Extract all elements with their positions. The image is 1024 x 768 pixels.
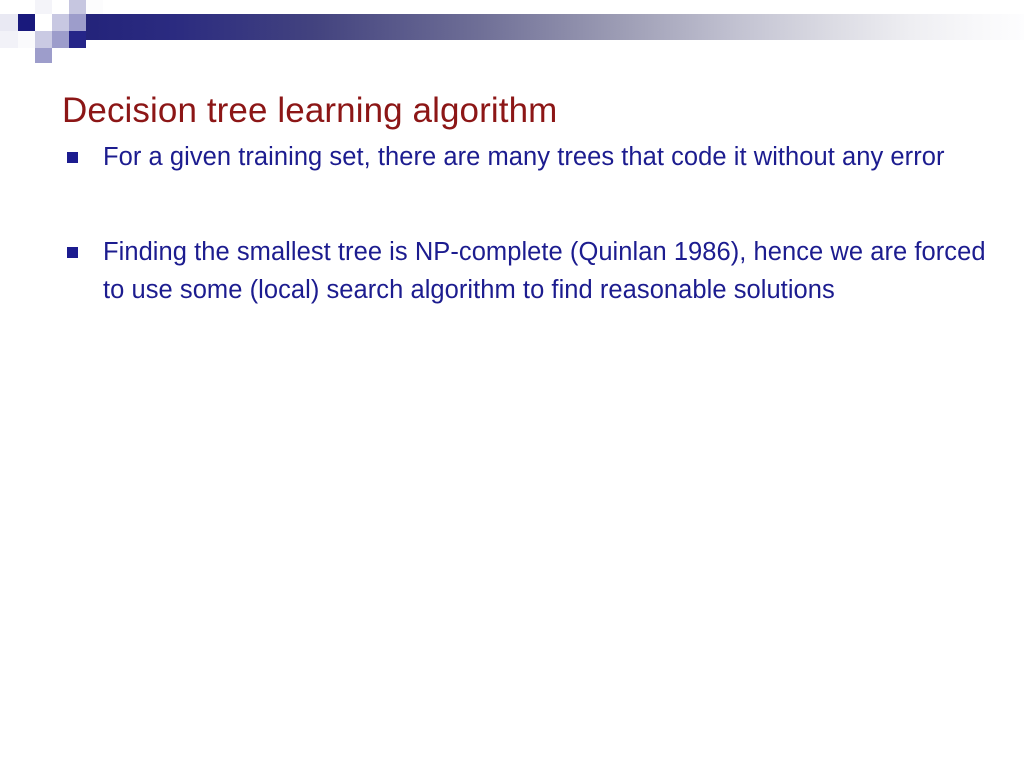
list-item: Finding the smallest tree is NP-complete…	[62, 233, 992, 309]
header-gradient-bar	[80, 14, 1024, 40]
decorative-square	[52, 14, 69, 31]
list-item-text: Finding the smallest tree is NP-complete…	[103, 238, 986, 304]
bullet-square-icon	[67, 152, 78, 163]
decorative-square	[52, 31, 69, 48]
decorative-square	[69, 14, 86, 31]
decorative-square	[35, 14, 52, 31]
decorative-square	[35, 31, 52, 48]
decorative-square	[86, 0, 103, 14]
list-item: For a given training set, there are many…	[62, 138, 992, 176]
bullet-square-icon	[67, 247, 78, 258]
decorative-square	[52, 0, 69, 14]
bullet-spacer	[62, 176, 992, 233]
slide-canvas: Decision tree learning algorithm For a g…	[0, 0, 1024, 768]
decorative-square	[35, 48, 52, 63]
decorative-square	[0, 14, 18, 31]
decorative-square	[35, 0, 52, 14]
decorative-square	[69, 31, 86, 48]
header-decoration	[0, 0, 1024, 62]
decorative-square	[69, 0, 86, 14]
page-title: Decision tree learning algorithm	[62, 89, 962, 133]
decorative-square	[18, 31, 35, 48]
slide-body: For a given training set, there are many…	[62, 138, 992, 309]
decorative-square	[18, 14, 35, 31]
list-item-text: For a given training set, there are many…	[103, 143, 945, 171]
decorative-square	[0, 31, 18, 48]
